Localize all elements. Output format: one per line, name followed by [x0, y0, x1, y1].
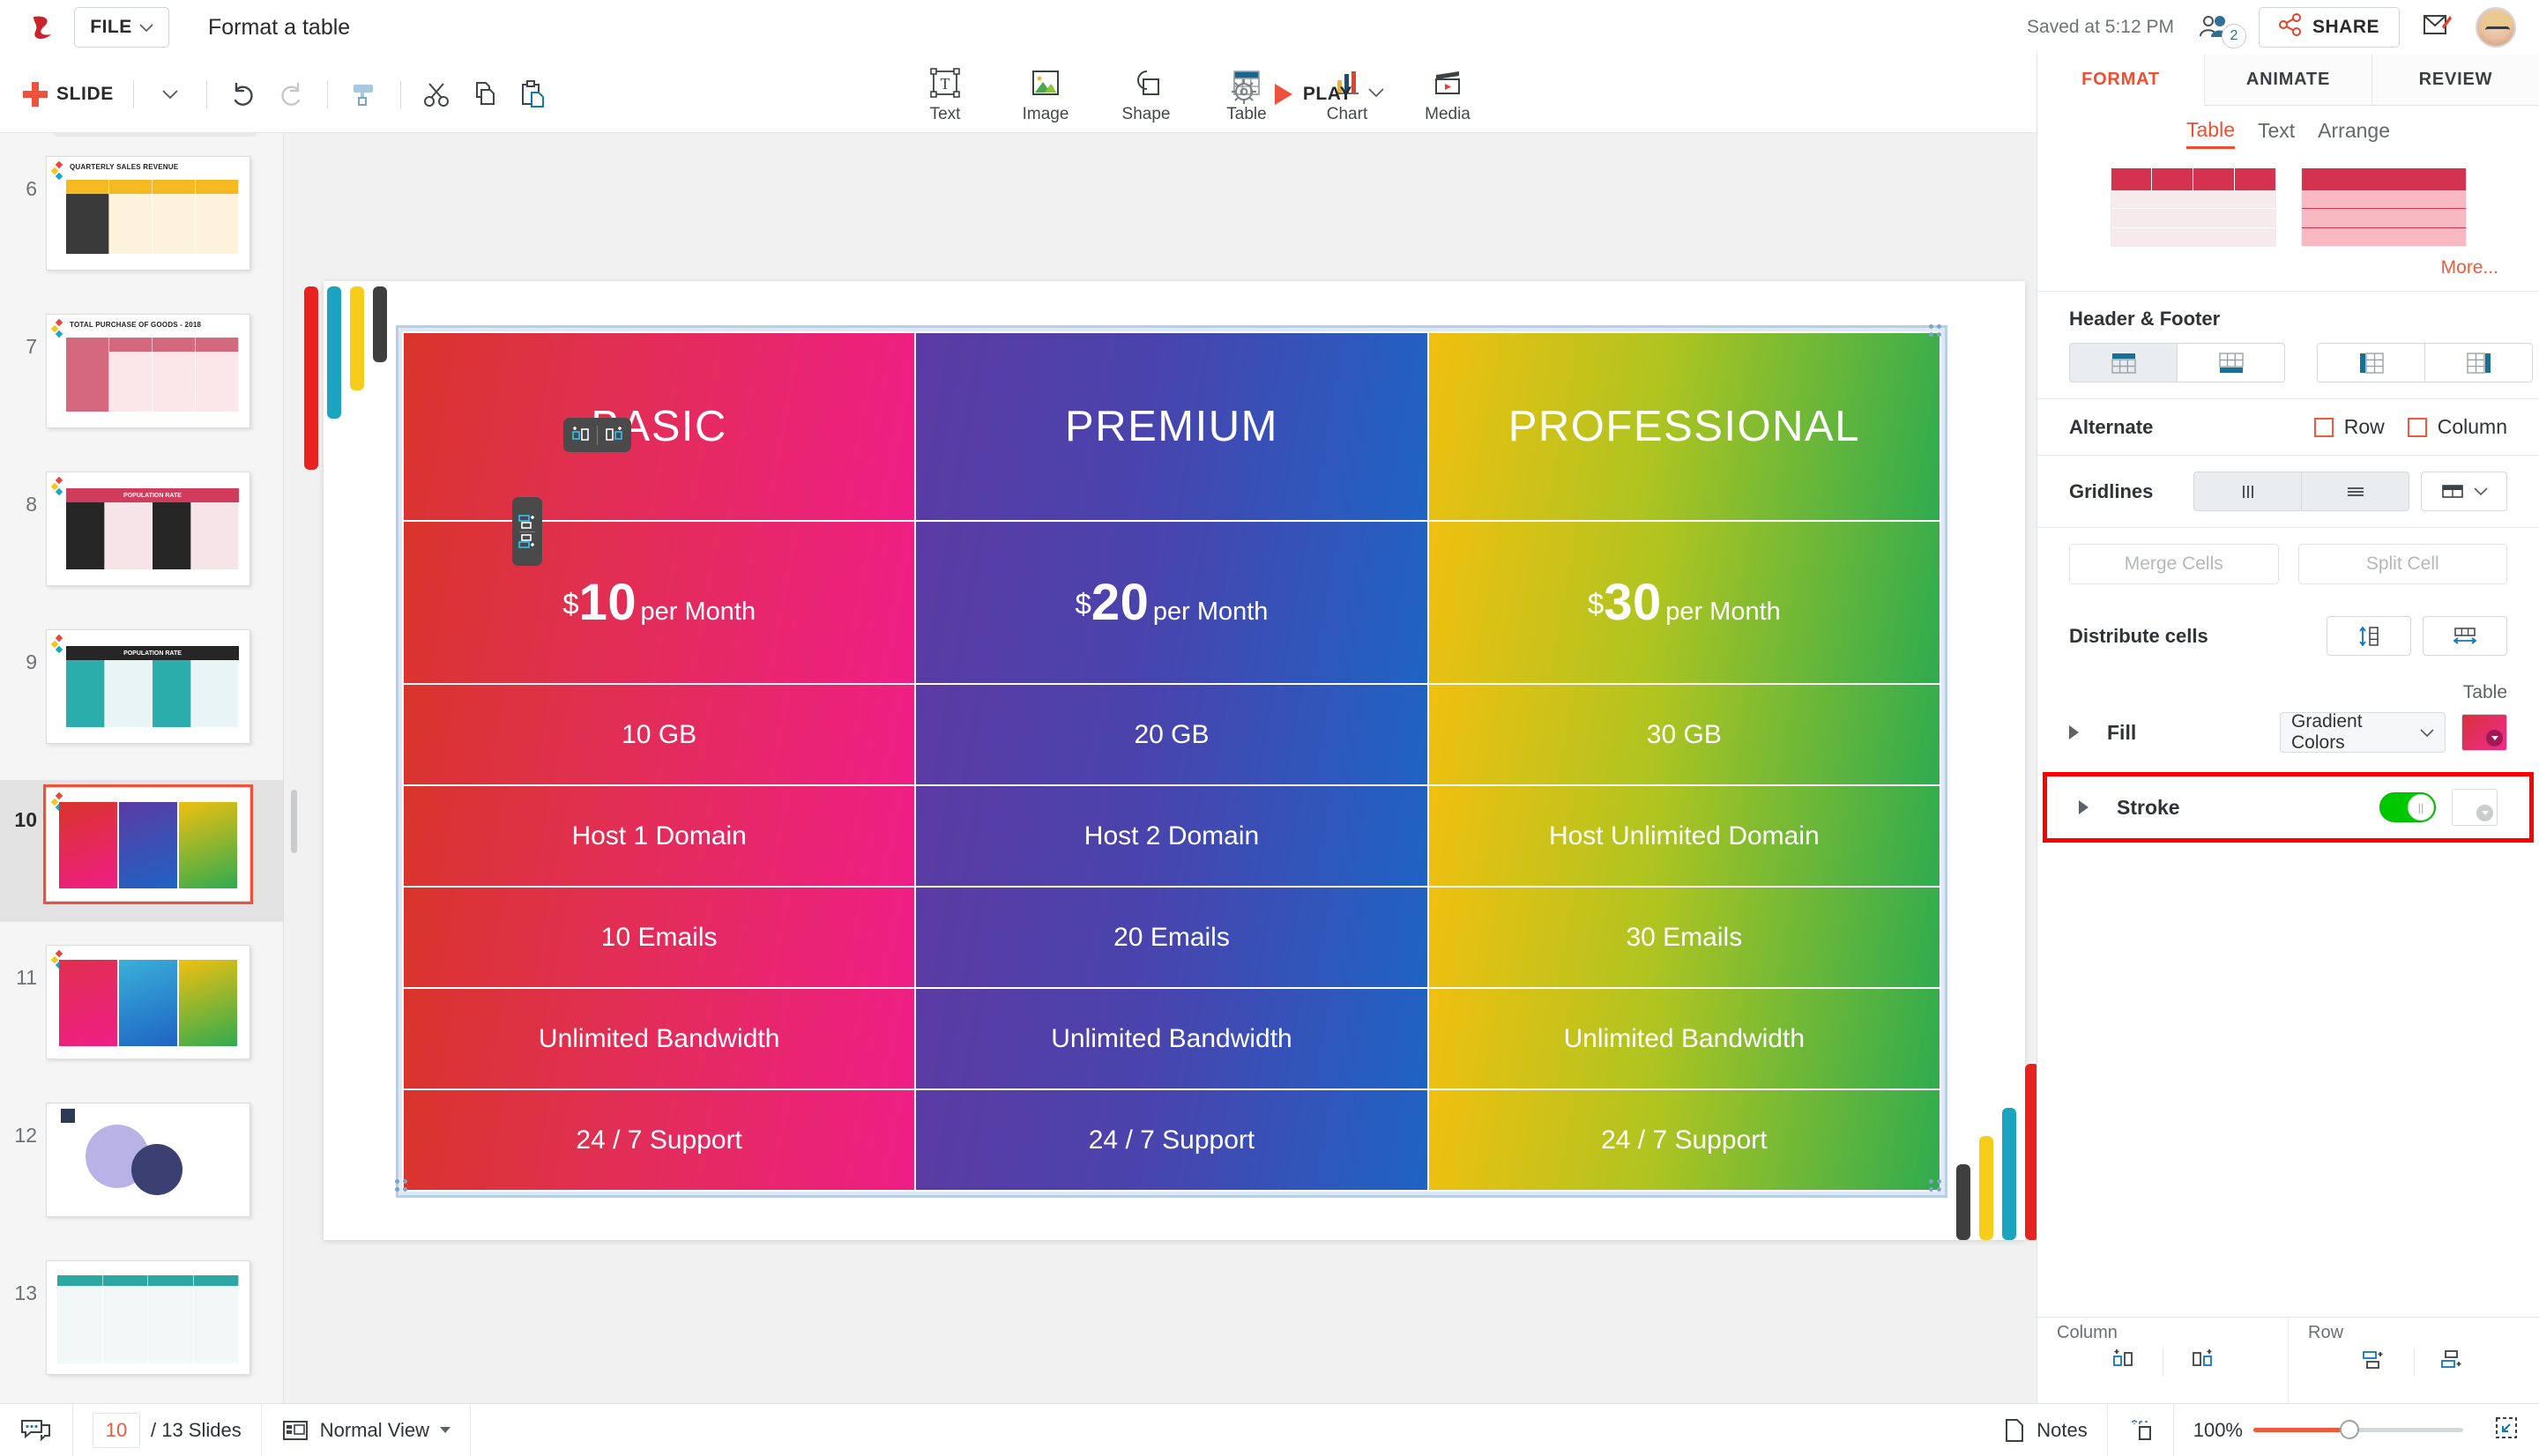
stroke-row: Stroke || [2043, 772, 2534, 843]
document-title[interactable]: Format a table [208, 15, 350, 41]
checkbox[interactable] [2314, 418, 2334, 437]
split-cell-button[interactable]: Split Cell [2298, 544, 2508, 584]
price-amount: 30 [1604, 574, 1662, 631]
thumbnail-slide-7[interactable]: 7 TOTAL PURCHASE OF GOODS - 2018 [0, 307, 283, 449]
thumbnail-preview: POPULATION RATE [46, 472, 250, 586]
table-cell[interactable]: Host 2 Domain [915, 785, 1427, 887]
table-cell[interactable]: Unlimited Bandwidth [915, 988, 1427, 1089]
insert-row-above-icon[interactable] [511, 512, 543, 531]
brand-dots-icon [52, 320, 64, 338]
thumbnail-slide-10[interactable]: 10 [0, 780, 283, 922]
table-cell-premium-header[interactable]: PREMIUM [915, 332, 1427, 521]
divider [327, 80, 328, 108]
comment-icon [19, 1417, 53, 1444]
merge-cells-button[interactable]: Merge Cells [2069, 544, 2279, 584]
status-bar: 10 / 13 Slides Normal View Notes [0, 1403, 2539, 1456]
insert-image-button[interactable]: Image [1000, 58, 1091, 130]
zoho-show-logo[interactable] [23, 8, 62, 47]
tab-review[interactable]: REVIEW [2371, 55, 2539, 105]
insert-column-left-icon[interactable] [2087, 1347, 2163, 1378]
thumbnail-number: 6 [0, 156, 46, 201]
divider [133, 80, 134, 108]
thumbnail-slide-12[interactable]: 12 [0, 1096, 283, 1237]
zoom-level: 100% [2193, 1419, 2243, 1442]
copy-icon[interactable] [461, 71, 509, 118]
canvas-scrollbar[interactable] [291, 790, 297, 853]
subtab-table[interactable]: Table [2186, 118, 2235, 149]
table-cell[interactable]: 10 Emails [403, 887, 915, 988]
thumbnail-preview [46, 1260, 250, 1375]
selection-handle-bottom-left[interactable] [395, 1179, 414, 1199]
row-insert-toolbar[interactable] [512, 497, 542, 566]
more-styles-link[interactable]: More... [2037, 247, 2539, 291]
price-period: per Month [641, 598, 756, 626]
zoom-control[interactable]: 100% [2174, 1404, 2539, 1456]
alternate-section: Alternate Row Column [2037, 398, 2539, 455]
stroke-label: Stroke [2117, 796, 2180, 820]
first-column-icon[interactable] [2317, 343, 2425, 383]
comments-button[interactable] [0, 1404, 73, 1456]
collaborators-count: 2 [2222, 24, 2246, 48]
gridlines-group [2193, 472, 2409, 511]
swatch-dropdown-icon [2486, 730, 2503, 747]
thumbnail-title: TOTAL PURCHASE OF GOODS - 2018 [70, 321, 201, 329]
thumbnail-number: 10 [0, 787, 46, 832]
table-row[interactable]: 24 / 7 Support 24 / 7 Support 24 / 7 Sup… [403, 1089, 1940, 1191]
plus-icon [23, 82, 48, 107]
slide-counter[interactable]: 10 / 13 Slides [73, 1404, 262, 1456]
tab-animate[interactable]: ANIMATE [2204, 55, 2371, 105]
table-cell[interactable]: 20 GB [915, 684, 1427, 785]
play-button[interactable]: PLAY [1275, 84, 1352, 105]
thumbnail-title: QUARTERLY SALES REVENUE [70, 163, 178, 171]
table-cell[interactable]: Host 1 Domain [403, 785, 915, 887]
price-amount: 20 [1091, 574, 1150, 631]
thumbnail-preview: QUARTERLY SALES REVENUE [46, 156, 250, 271]
stroke-toggle[interactable]: || [2379, 792, 2436, 822]
view-mode-selector[interactable]: Normal View [262, 1404, 471, 1456]
table-style-option-1[interactable] [2111, 167, 2276, 247]
header-footer-title: Header & Footer [2069, 308, 2507, 331]
table-cell[interactable]: Host Unlimited Domain [1428, 785, 1940, 887]
last-column-icon[interactable] [2424, 343, 2533, 383]
thumbnail-number: 12 [0, 1103, 46, 1148]
insert-image-label: Image [1023, 105, 1069, 124]
decor-bars-bottom-right [1956, 1064, 2039, 1240]
insert-row-above-icon[interactable] [2336, 1347, 2414, 1378]
fill-color-swatch[interactable] [2461, 714, 2507, 751]
pricing-table[interactable]: BASIC PREMIUM PROFESSIONAL $10 per Month… [396, 325, 1947, 1198]
svg-text:T: T [941, 75, 950, 93]
table-row-price[interactable]: $10 per Month $20 per Month $30 per Mont… [403, 521, 1940, 684]
table-cell[interactable]: Unlimited Bandwidth [1428, 988, 1940, 1089]
row-group-label: Row [2289, 1323, 2343, 1343]
zoom-slider[interactable] [2253, 1428, 2463, 1432]
thumbnail-preview: TOTAL PURCHASE OF GOODS - 2018 [46, 314, 250, 428]
table-cell[interactable]: 30 Emails [1428, 887, 1940, 988]
insert-row-below-icon[interactable] [511, 532, 543, 552]
column-insert-group: Column [2037, 1318, 2288, 1403]
insert-row-below-icon[interactable] [2415, 1347, 2492, 1378]
table-cell[interactable]: 24 / 7 Support [1428, 1089, 1940, 1191]
insert-tools-group: T Text Image Shape [899, 55, 1493, 133]
top-bar-right: Saved at 5:12 PM 2 [2027, 7, 2516, 48]
border-style-dropdown[interactable] [2421, 472, 2507, 511]
insert-column-right-icon[interactable] [2163, 1347, 2239, 1378]
insert-column-right-icon[interactable] [598, 426, 629, 445]
play-label: PLAY [1303, 84, 1352, 105]
text-box-icon: T [927, 64, 964, 101]
alternate-row-checkbox[interactable]: Row [2314, 415, 2385, 439]
checkbox[interactable] [2408, 418, 2427, 437]
pricing-table-grid[interactable]: BASIC PREMIUM PROFESSIONAL $10 per Month… [402, 331, 1941, 1192]
add-slide-layout-dropdown[interactable] [146, 71, 194, 118]
selection-handle-bottom-right[interactable] [1929, 1179, 1948, 1199]
thumbnail-slide-13[interactable]: 13 [0, 1253, 283, 1395]
subtab-arrange[interactable]: Arrange [2318, 119, 2390, 147]
subtab-text[interactable]: Text [2258, 119, 2295, 147]
gridlines-section: Gridlines [2037, 455, 2539, 527]
thumbnail-number: 7 [0, 314, 46, 359]
price-period: per Month [1153, 598, 1269, 626]
status-bar-right: Notes 100% [1984, 1404, 2539, 1456]
add-slide-button[interactable]: SLIDE [16, 82, 121, 107]
header-footer-row-group [2069, 343, 2285, 383]
collaborators-button[interactable]: 2 [2197, 11, 2236, 43]
insert-media-button[interactable]: Media [1402, 58, 1493, 130]
row-insert-group: Row [2288, 1318, 2539, 1403]
alternate-column-label: Column [2438, 415, 2507, 439]
table-cell-basic-price[interactable]: $10 per Month [403, 521, 915, 684]
header-row-icon[interactable] [2069, 343, 2178, 383]
footer-row-icon[interactable] [2177, 343, 2285, 383]
alternate-title: Alternate [2069, 416, 2153, 439]
file-menu-button[interactable]: FILE [74, 7, 169, 48]
notes-button[interactable]: Notes [1984, 1404, 2107, 1456]
thumbnail-slide-6[interactable]: 6 QUARTERLY SALES REVENUE [0, 149, 283, 291]
normal-view-icon [281, 1419, 309, 1442]
image-icon [1027, 64, 1064, 101]
zoom-slider-fill [2253, 1428, 2347, 1432]
table-row[interactable]: 10 Emails 20 Emails 30 Emails [403, 887, 1940, 988]
merge-section: Merge Cells Split Cell [2037, 527, 2539, 600]
thumbnail-preview: POPULATION RATE [46, 629, 250, 744]
slide-thumbnail-panel[interactable]: 6 QUARTERLY SALES REVENUE 7 TOTAL PURCHA… [0, 133, 284, 1403]
file-menu-label: FILE [90, 17, 132, 38]
feedback-icon[interactable] [2423, 12, 2453, 43]
fill-type-value: Gradient Colors [2291, 711, 2413, 754]
thumbnail-slide-8[interactable]: 8 POPULATION RATE [0, 464, 283, 606]
chevron-down-icon [440, 1427, 450, 1433]
alternate-row-label: Row [2344, 415, 2385, 439]
divider [400, 80, 401, 108]
insert-shape-button[interactable]: Shape [1100, 58, 1192, 130]
distribute-columns-icon[interactable] [2423, 616, 2507, 656]
swatch-dropdown-icon [2476, 805, 2493, 821]
thumbnail-title: POPULATION RATE [123, 650, 182, 657]
saved-status: Saved at 5:12 PM [2027, 17, 2174, 38]
fit-to-screen-icon[interactable] [2493, 1415, 2520, 1445]
insert-column-left-icon[interactable] [565, 426, 597, 445]
thumbnail-scroll-indicator [53, 133, 257, 137]
table-cell[interactable]: 24 / 7 Support [403, 1089, 915, 1191]
fill-label: Fill [2107, 721, 2136, 745]
toolbar-right-group: PLAY [1229, 55, 1384, 133]
fill-type-select[interactable]: Gradient Colors [2280, 712, 2446, 753]
table-cell[interactable]: Unlimited Bandwidth [403, 988, 915, 1089]
table-cell-basic-header[interactable]: BASIC [403, 332, 915, 521]
table-row[interactable]: Host 1 Domain Host 2 Domain Host Unlimit… [403, 785, 1940, 887]
table-cell-professional-header[interactable]: PROFESSIONAL [1428, 332, 1940, 521]
thumbnail-slide-11[interactable]: 11 [0, 938, 283, 1080]
view-mode-label: Normal View [320, 1419, 429, 1442]
chevron-down-icon [2420, 722, 2434, 743]
current-slide[interactable]: BASIC PREMIUM PROFESSIONAL $10 per Month… [324, 281, 2025, 1240]
gear-icon[interactable] [1229, 77, 1259, 111]
alternate-column-checkbox[interactable]: Column [2408, 415, 2507, 439]
brand-dots-icon [52, 635, 64, 653]
share-button[interactable]: SHARE [2259, 7, 2400, 48]
insert-shape-label: Shape [1122, 105, 1171, 124]
sidebar-subtabs: Table Text Arrange [2037, 106, 2539, 160]
share-label: SHARE [2312, 17, 2379, 38]
media-clapperboard-icon [1429, 64, 1466, 101]
insert-text-button[interactable]: T Text [899, 58, 991, 130]
horizontal-gridlines-icon[interactable] [2301, 472, 2409, 511]
expand-triangle-icon[interactable] [2069, 725, 2079, 739]
distribute-title: Distribute cells [2069, 625, 2208, 648]
table-row-header[interactable]: BASIC PREMIUM PROFESSIONAL [403, 332, 1940, 521]
header-footer-section: Header & Footer [2037, 291, 2539, 398]
sidebar-tabs: FORMAT ANIMATE REVIEW [2037, 55, 2539, 106]
thumbnail-title: POPULATION RATE [123, 493, 182, 499]
add-slide-label: SLIDE [56, 84, 114, 105]
column-insert-toolbar[interactable] [563, 418, 631, 452]
presentation-editor: FILE Format a table Saved at 5:12 PM 2 [0, 0, 2539, 1456]
table-style-gallery [2037, 160, 2539, 247]
user-avatar[interactable] [2476, 7, 2516, 48]
thumbnail-number: 8 [0, 472, 46, 516]
price-currency: $ [1076, 588, 1091, 620]
price-currency: $ [1588, 588, 1604, 620]
zoom-slider-knob[interactable] [2340, 1420, 2359, 1439]
gridlines-title: Gridlines [2069, 480, 2153, 503]
thumbnail-preview [46, 1103, 250, 1217]
price-period: per Month [1665, 598, 1781, 626]
guides-icon [2127, 1417, 2154, 1444]
stroke-color-swatch[interactable] [2452, 789, 2498, 826]
column-group-label: Column [2037, 1323, 2118, 1343]
thumbnail-preview [46, 787, 250, 902]
distribute-section: Distribute cells [2037, 600, 2539, 672]
table-cell[interactable]: 30 GB [1428, 684, 1940, 785]
paste-icon[interactable] [509, 71, 556, 118]
divider [206, 80, 207, 108]
selection-handle-top-right[interactable] [1929, 324, 1948, 344]
current-slide-number[interactable]: 10 [93, 1413, 140, 1448]
chevron-down-icon [139, 17, 153, 38]
share-icon [2279, 13, 2302, 41]
table-insert-footer: Column Row [2037, 1317, 2539, 1403]
shape-icon [1128, 64, 1165, 101]
table-cell[interactable]: 10 GB [403, 684, 915, 785]
fill-row: Fill Gradient Colors [2037, 703, 2539, 772]
undo-icon[interactable] [220, 71, 267, 118]
vertical-gridlines-icon[interactable] [2193, 472, 2302, 511]
toolbar-left-group: SLIDE [16, 55, 556, 133]
notes-label: Notes [2036, 1419, 2087, 1442]
insert-text-label: Text [930, 105, 961, 124]
tab-format[interactable]: FORMAT [2037, 55, 2204, 106]
play-icon [1275, 84, 1292, 105]
price-currency: $ [562, 588, 578, 620]
guides-button[interactable] [2108, 1404, 2174, 1456]
insert-media-label: Media [1425, 105, 1471, 124]
table-style-option-2[interactable] [2301, 167, 2467, 247]
table-section-label: Table [2037, 672, 2539, 703]
play-options-dropdown[interactable] [1368, 86, 1384, 102]
cut-icon[interactable] [413, 71, 461, 118]
table-cell-premium-price[interactable]: $20 per Month [915, 521, 1427, 684]
decor-bars-top-left [304, 286, 387, 470]
table-cell[interactable]: 20 Emails [915, 887, 1427, 988]
table-row[interactable]: Unlimited Bandwidth Unlimited Bandwidth … [403, 988, 1940, 1089]
format-sidebar: FORMAT ANIMATE REVIEW Table Text Arrange [2036, 55, 2539, 1403]
expand-triangle-icon[interactable] [2079, 800, 2089, 814]
redo-icon[interactable] [267, 71, 315, 118]
slide-count-label: / 13 Slides [151, 1419, 242, 1442]
top-bar: FILE Format a table Saved at 5:12 PM 2 [0, 0, 2539, 55]
distribute-rows-icon[interactable] [2327, 616, 2411, 656]
table-cell-professional-price[interactable]: $30 per Month [1428, 521, 1940, 684]
brand-dots-icon [52, 478, 64, 495]
thumbnail-preview [46, 945, 250, 1059]
header-footer-column-group [2317, 343, 2533, 383]
thumbnail-number: 13 [0, 1260, 46, 1305]
brand-dots-icon [52, 162, 64, 180]
table-row[interactable]: 10 GB 20 GB 30 GB [403, 684, 1940, 785]
thumbnail-number: 9 [0, 629, 46, 674]
thumbnail-slide-9[interactable]: 9 POPULATION RATE [0, 622, 283, 764]
thumbnail-number: 11 [0, 945, 46, 990]
notes-icon [2003, 1417, 2026, 1444]
format-painter-icon[interactable] [340, 71, 388, 118]
toggle-knob: || [2408, 794, 2434, 821]
price-amount: 10 [579, 574, 637, 631]
table-cell[interactable]: 24 / 7 Support [915, 1089, 1427, 1191]
